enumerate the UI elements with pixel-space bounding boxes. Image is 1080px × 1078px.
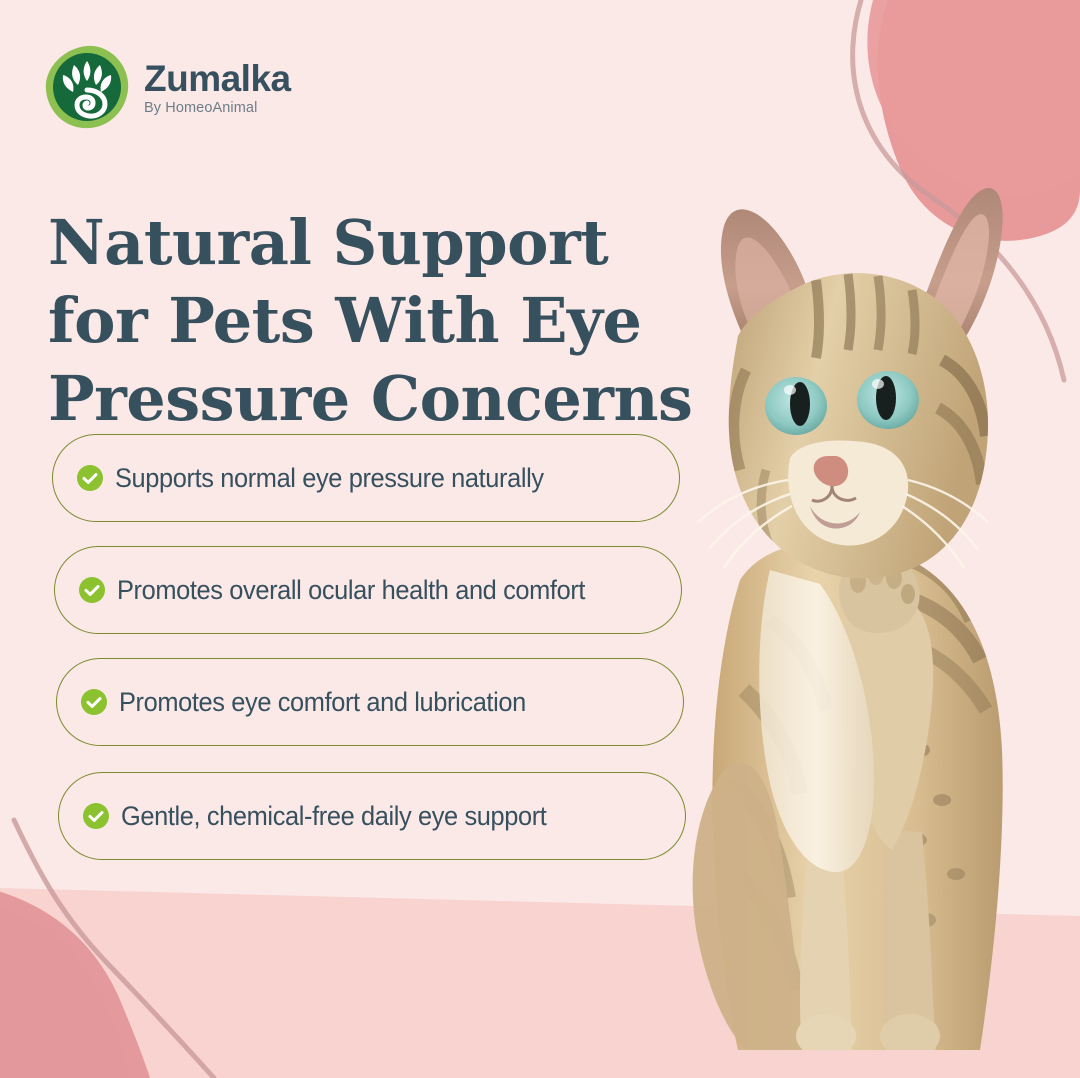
leaf-paw-spiral-logo-icon: [44, 44, 130, 130]
cat-eye-highlight-right: [872, 379, 884, 389]
page-title: Natural Support for Pets With Eye Pressu…: [48, 204, 708, 438]
list-item-label: Promotes eye comfort and lubrication: [119, 687, 526, 718]
list-item[interactable]: Supports normal eye pressure naturally: [52, 434, 680, 522]
headline-line-1: Natural Support: [48, 204, 708, 282]
list-item[interactable]: Gentle, chemical-free daily eye support: [58, 772, 686, 860]
brand-logo-block[interactable]: Zumalka By HomeoAnimal: [44, 44, 291, 130]
benefit-list: Supports normal eye pressure naturally P…: [52, 434, 686, 860]
headline-line-2: for Pets With Eye: [48, 282, 708, 360]
check-circle-icon: [77, 465, 103, 491]
cat-eye-highlight-left: [784, 385, 796, 395]
check-circle-icon: [79, 577, 105, 603]
check-circle-icon: [83, 803, 109, 829]
list-item[interactable]: Promotes overall ocular health and comfo…: [54, 546, 682, 634]
brand-tagline: By HomeoAnimal: [144, 100, 291, 116]
list-item-label: Supports normal eye pressure naturally: [115, 463, 544, 494]
list-item[interactable]: Promotes eye comfort and lubrication: [56, 658, 684, 746]
headline-line-3: Pressure Concerns: [48, 360, 708, 438]
list-item-label: Gentle, chemical-free daily eye support: [121, 801, 546, 832]
poster-canvas: Zumalka By HomeoAnimal Natural Support f…: [0, 0, 1080, 1078]
list-item-label: Promotes overall ocular health and comfo…: [117, 575, 585, 606]
check-circle-icon: [81, 689, 107, 715]
brand-text-block: Zumalka By HomeoAnimal: [144, 60, 291, 117]
brand-name: Zumalka: [144, 60, 291, 98]
